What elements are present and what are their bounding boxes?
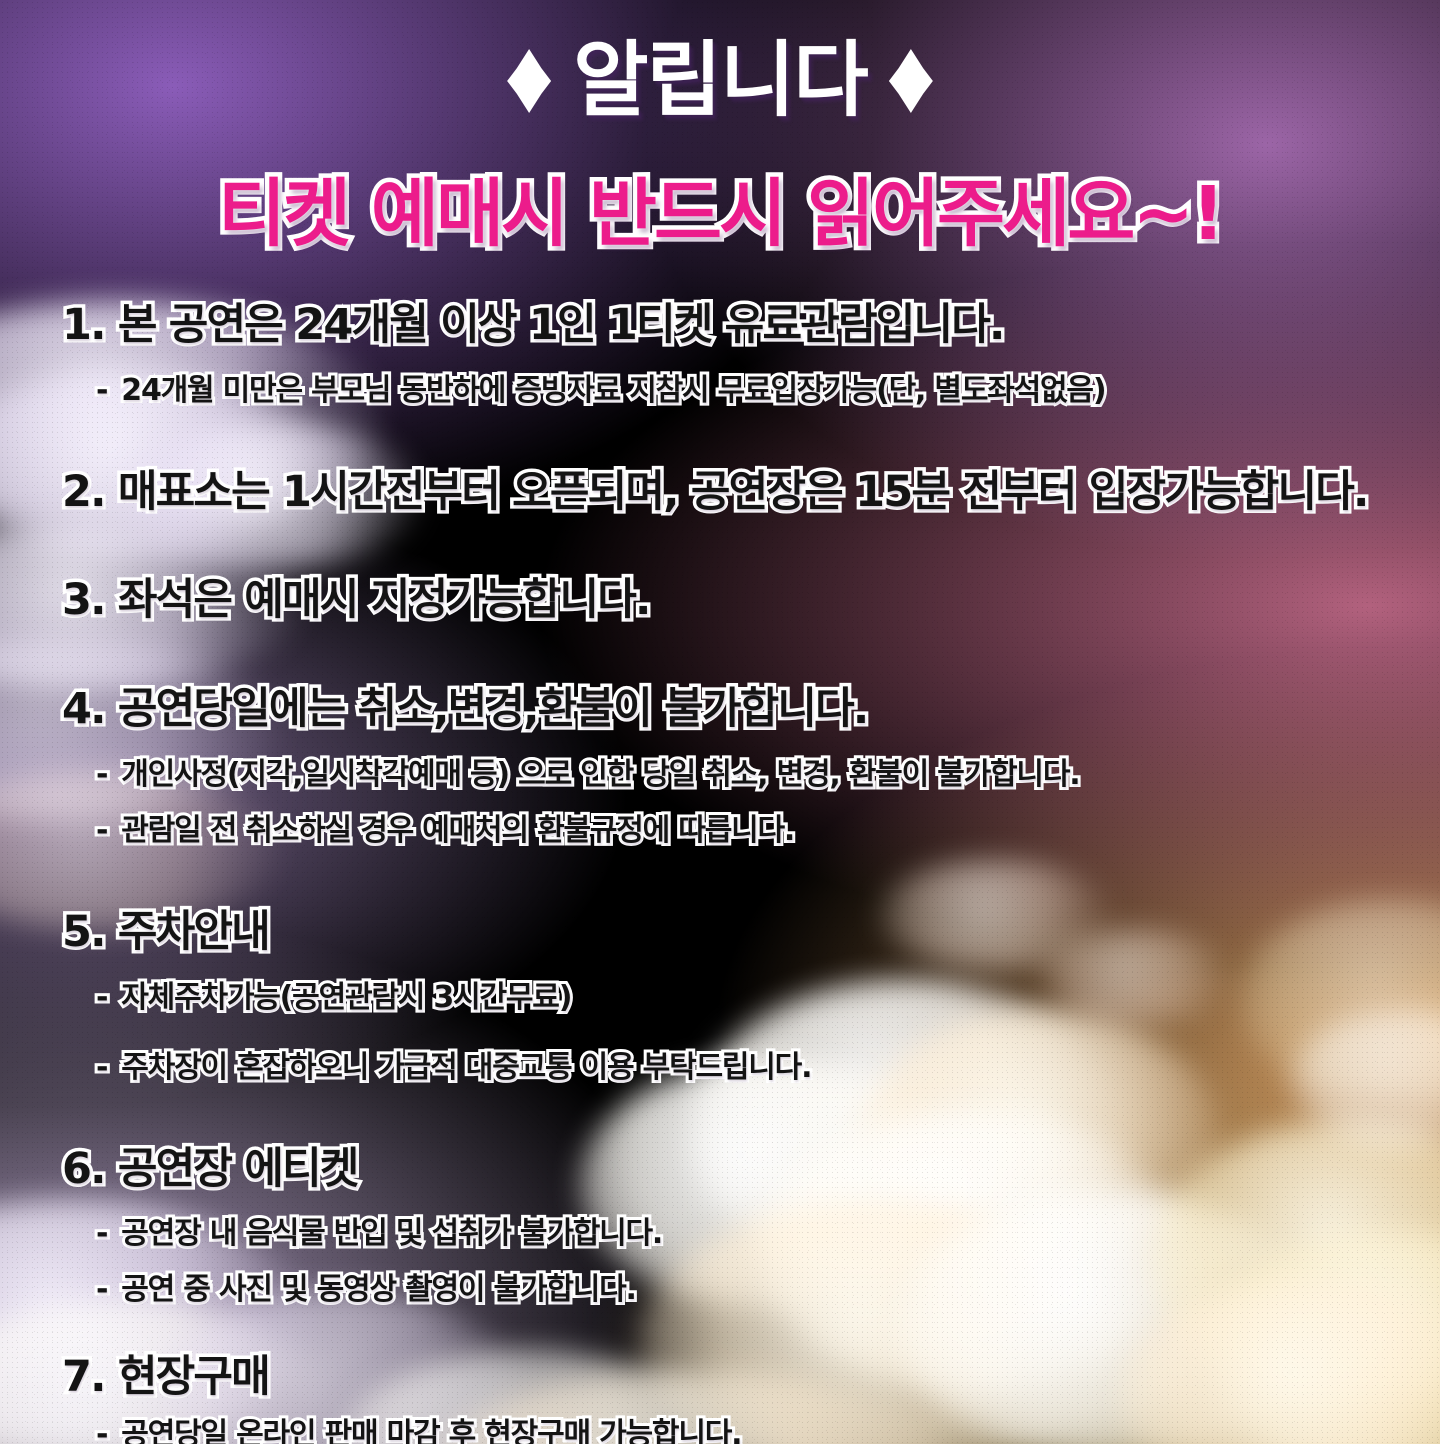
- notice-heading: 2. 매표소는 1시간전부터 오픈되며, 공연장은 15분 전부터 입장가능합니…: [0, 467, 1440, 518]
- notice-subline: -24개월 미만은 부모님 동반하에 증빙자료 지참시 무료입장가능(단, 별도…: [0, 373, 1440, 409]
- diamond-icon-left: [507, 49, 551, 113]
- notice-item-2: 2. 매표소는 1시간전부터 오픈되며, 공연장은 15분 전부터 입장가능합니…: [0, 467, 1440, 518]
- notice-subline-text: 주차장이 혼잡하오니 가급적 대중교통 이용 부탁드립니다.: [121, 1050, 811, 1085]
- notice-subline-text: 관람일 전 취소하실 경우 예매처의 환불규정에 따릅니다.: [121, 813, 794, 848]
- notice-poster: 알립니다 티켓 예매시 반드시 읽어주세요~! 1. 본 공연은 24개월 이상…: [0, 0, 1440, 1444]
- notice-subline-text: 자체주차가능(공연관람시 3시간무료): [121, 980, 571, 1015]
- bullet-dash: -: [96, 1272, 107, 1307]
- bullet-dash: -: [96, 813, 107, 848]
- page-title: 알립니다: [573, 40, 867, 122]
- bullet-dash: -: [96, 757, 107, 792]
- notice-subline: -공연당일 온라인 판매 마감 후 현장구매 가능합니다.: [0, 1417, 1440, 1444]
- bullet-dash: -: [96, 1216, 107, 1251]
- notice-heading: 6. 공연장 에티켓: [0, 1144, 1440, 1195]
- notice-subline-text: 공연장 내 음식물 반입 및 섭취가 불가합니다.: [121, 1216, 662, 1251]
- bullet-dash: -: [96, 373, 107, 408]
- notice-heading: 7. 현장구매: [0, 1352, 1440, 1403]
- notice-subline: -공연장 내 음식물 반입 및 섭취가 불가합니다.: [0, 1216, 1440, 1252]
- notice-subline-text: 공연 중 사진 및 동영상 촬영이 불가합니다.: [121, 1272, 635, 1307]
- notice-subline: -주차장이 혼잡하오니 가급적 대중교통 이용 부탁드립니다.: [0, 1050, 1440, 1086]
- notice-heading: 5. 주차안내: [0, 907, 1440, 958]
- notice-subline-text: 개인사정(지각,일시착각예매 등) 으로 인한 당일 취소, 변경, 환불이 불…: [121, 757, 1079, 792]
- notice-heading: 3. 좌석은 예매시 지정가능합니다.: [0, 575, 1440, 626]
- poster-title-row: 알립니다: [0, 40, 1440, 122]
- notice-item-6: 6. 공연장 에티켓 -공연장 내 음식물 반입 및 섭취가 불가합니다. -공…: [0, 1144, 1440, 1309]
- notice-subline-text: 공연당일 온라인 판매 마감 후 현장구매 가능합니다.: [121, 1417, 741, 1444]
- notice-subline-text: 24개월 미만은 부모님 동반하에 증빙자료 지참시 무료입장가능(단, 별도좌…: [121, 373, 1105, 408]
- diamond-icon-right: [889, 49, 933, 113]
- bullet-dash: -: [96, 1417, 107, 1444]
- page-subtitle: 티켓 예매시 반드시 읽어주세요~!: [0, 176, 1440, 254]
- notice-list: 1. 본 공연은 24개월 이상 1인 1티켓 유료관람입니다. -24개월 미…: [0, 300, 1440, 1444]
- notice-item-4: 4. 공연당일에는 취소,변경,환불이 불가합니다. -개인사정(지각,일시착각…: [0, 684, 1440, 849]
- notice-item-7: 7. 현장구매 -공연당일 온라인 판매 마감 후 현장구매 가능합니다. -티…: [0, 1352, 1440, 1444]
- notice-item-5: 5. 주차안내 -자체주차가능(공연관람시 3시간무료) -주차장이 혼잡하오니…: [0, 907, 1440, 1086]
- notice-subline: -개인사정(지각,일시착각예매 등) 으로 인한 당일 취소, 변경, 환불이 …: [0, 757, 1440, 793]
- bullet-dash: -: [96, 980, 107, 1015]
- notice-subline: -관람일 전 취소하실 경우 예매처의 환불규정에 따릅니다.: [0, 813, 1440, 849]
- notice-subline: -자체주차가능(공연관람시 3시간무료): [0, 980, 1440, 1016]
- notice-heading: 4. 공연당일에는 취소,변경,환불이 불가합니다.: [0, 684, 1440, 735]
- notice-subline: -공연 중 사진 및 동영상 촬영이 불가합니다.: [0, 1272, 1440, 1308]
- bullet-dash: -: [96, 1050, 107, 1085]
- notice-item-3: 3. 좌석은 예매시 지정가능합니다.: [0, 575, 1440, 626]
- notice-item-1: 1. 본 공연은 24개월 이상 1인 1티켓 유료관람입니다. -24개월 미…: [0, 300, 1440, 409]
- notice-heading: 1. 본 공연은 24개월 이상 1인 1티켓 유료관람입니다.: [0, 300, 1440, 351]
